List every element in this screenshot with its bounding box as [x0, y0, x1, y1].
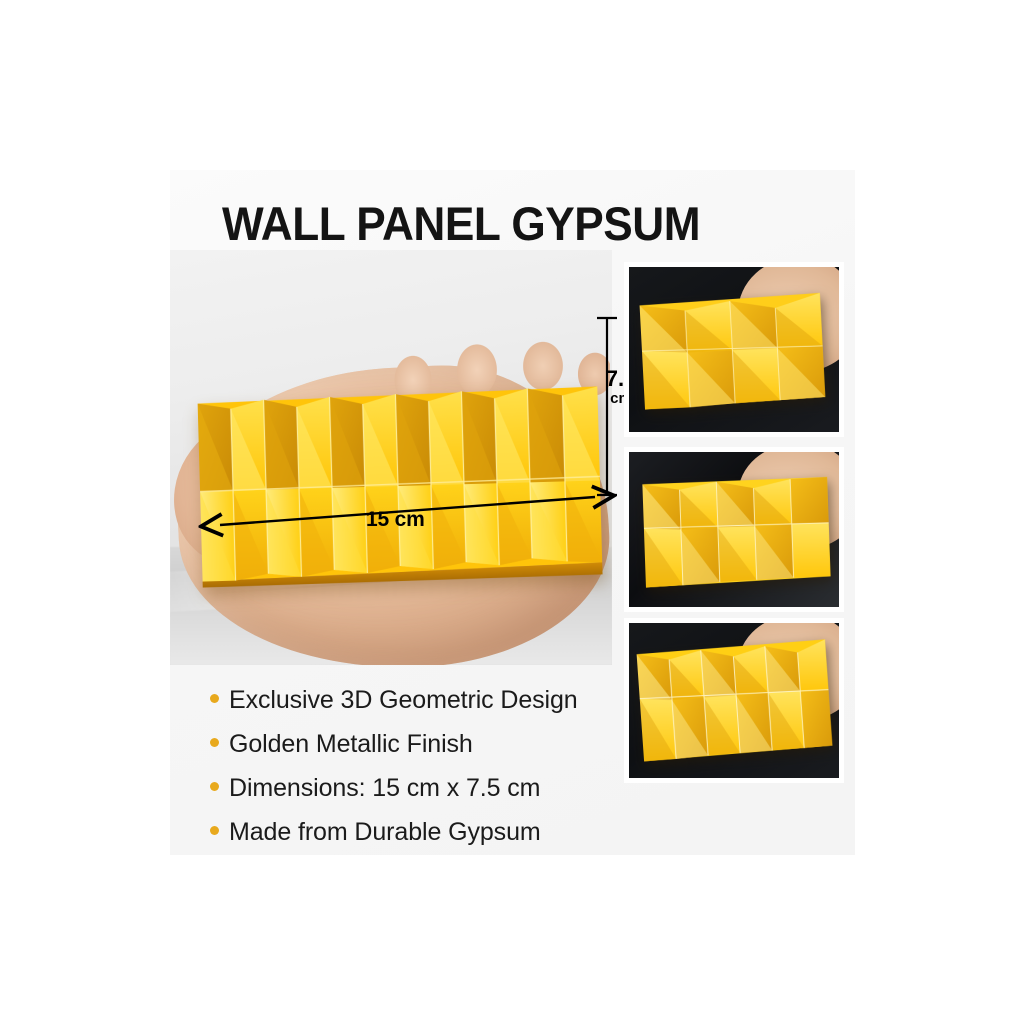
feature-label: Made from Durable Gypsum: [229, 817, 541, 847]
feature-label: Exclusive 3D Geometric Design: [229, 685, 578, 715]
thumbnail-2-image: [629, 452, 839, 607]
list-item: Golden Metallic Finish: [210, 729, 680, 759]
feature-label: Dimensions: 15 cm x 7.5 cm: [229, 773, 540, 803]
list-item: Dimensions: 15 cm x 7.5 cm: [210, 773, 680, 803]
infographic-page: WALL PANEL GYPSUM: [0, 0, 1024, 1024]
page-title: WALL PANEL GYPSUM: [222, 196, 805, 252]
thumbnail-1[interactable]: [624, 262, 844, 437]
list-item: Made from Durable Gypsum: [210, 817, 680, 847]
list-item: Exclusive 3D Geometric Design: [210, 685, 680, 715]
hero-product-photo: [170, 250, 612, 665]
thumb2-gold-panel: [642, 471, 831, 587]
bullet-dot-icon: [210, 826, 219, 835]
gold-3d-panel: [197, 384, 602, 587]
product-infographic-canvas: WALL PANEL GYPSUM: [170, 170, 855, 855]
thumbnail-2[interactable]: [624, 447, 844, 612]
feature-list: Exclusive 3D Geometric Design Golden Met…: [210, 685, 680, 855]
feature-label: Golden Metallic Finish: [229, 729, 473, 759]
thumb1-gold-panel: [638, 289, 825, 409]
bullet-dot-icon: [210, 694, 219, 703]
thumbnail-1-image: [629, 267, 839, 432]
width-dimension-label: 15 cm: [366, 508, 425, 532]
bullet-dot-icon: [210, 738, 219, 747]
bullet-dot-icon: [210, 782, 219, 791]
